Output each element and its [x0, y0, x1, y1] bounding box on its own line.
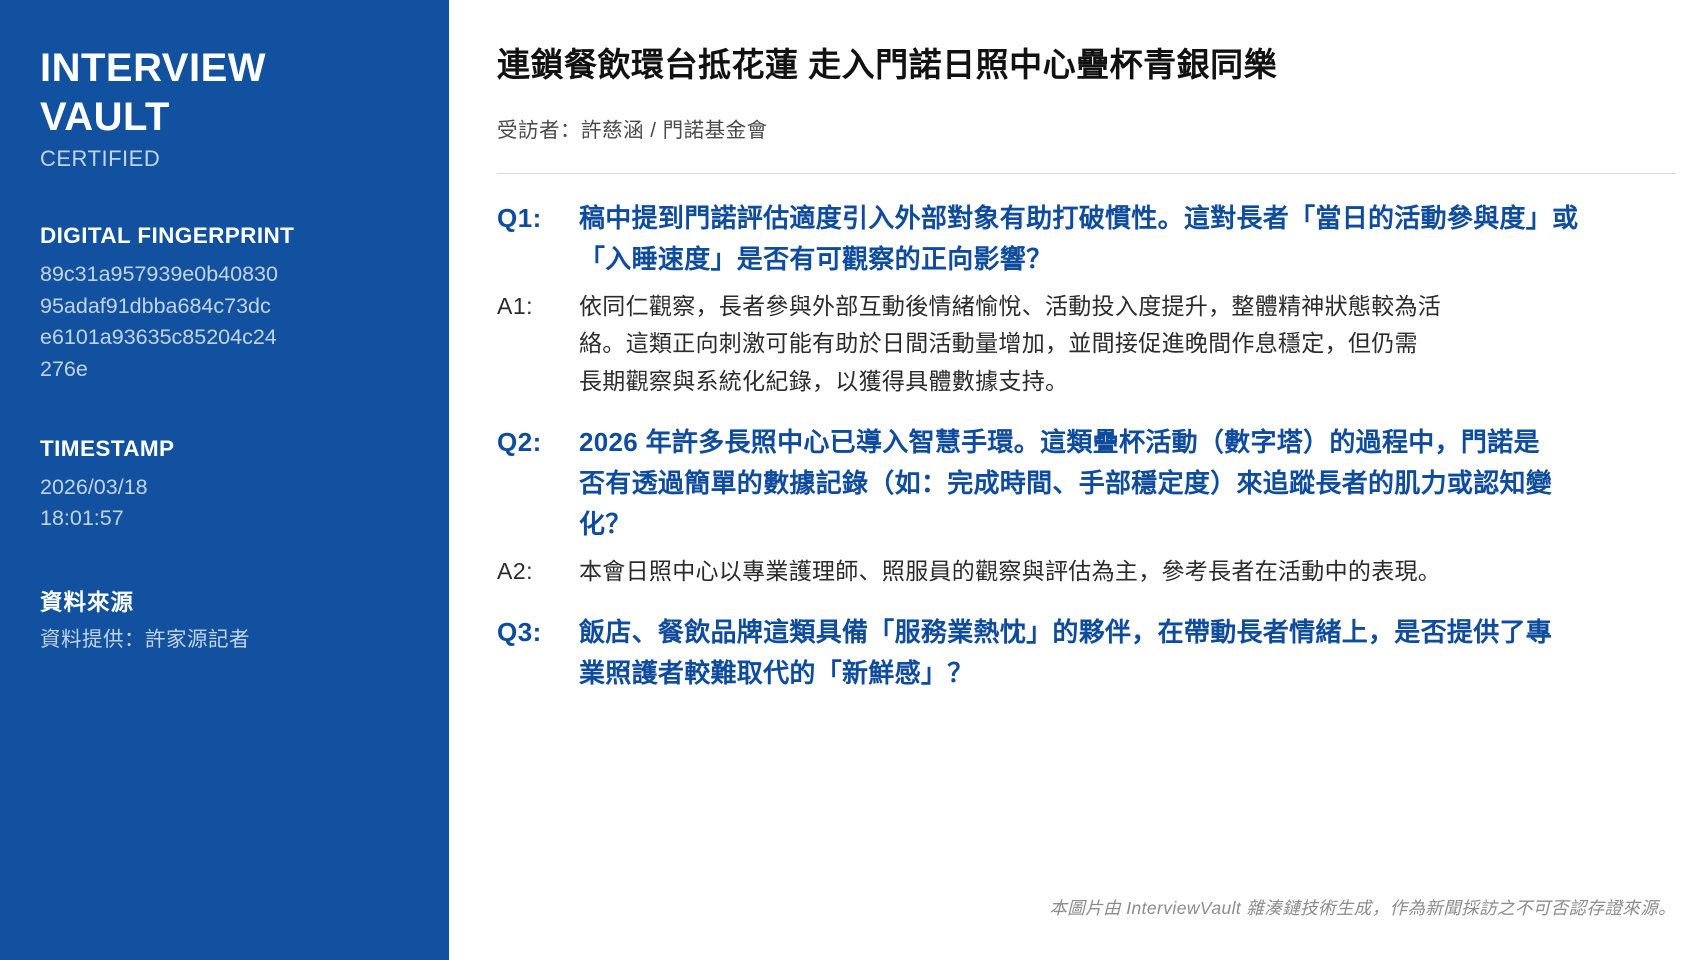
question-row: Q2: 2026 年許多長照中心已導入智慧手環。這類疊杯活動（數字塔）的過程中，… [497, 422, 1706, 545]
brand-block: INTERVIEW VAULT CERTIFIED [40, 44, 409, 173]
timestamp-label: TIMESTAMP [40, 436, 409, 462]
sidebar: INTERVIEW VAULT CERTIFIED DIGITAL FINGER… [0, 0, 449, 960]
qa-item: Q3: 飯店、餐飲品牌這類具備「服務業熱忱」的夥伴，在帶動長者情緒上，是否提供了… [497, 612, 1706, 694]
source-block: 資料來源 資料提供：許家源記者 [40, 585, 409, 656]
main-content: 連鎖餐飲環台抵花蓮 走入門諾日照中心疊杯青銀同樂 受訪者：許慈涵 / 門諾基金會… [449, 0, 1706, 960]
fingerprint-line-4: 276e [40, 354, 330, 386]
qa-item: A2: 本會日照中心以專業護理師、照服員的觀察與評估為主，參考長者在活動中的表現… [497, 553, 1706, 590]
qa-list: Q1: 稿中提到門諾評估適度引入外部對象有助打破慣性。這對長者「當日的活動參與度… [497, 198, 1706, 695]
answer-text: 依同仁觀察，長者參與外部互動後情緒愉悅、活動投入度提升，整體精神狀態較為活 絡。… [579, 288, 1441, 400]
brand-subtitle: CERTIFIED [40, 144, 300, 174]
certified-interview-document: INTERVIEW VAULT CERTIFIED DIGITAL FINGER… [0, 0, 1706, 960]
qa-item: Q2: 2026 年許多長照中心已導入智慧手環。這類疊杯活動（數字塔）的過程中，… [497, 422, 1706, 545]
answer-tag: A2: [497, 553, 579, 590]
digital-fingerprint-block: DIGITAL FINGERPRINT 89c31a957939e0b40830… [40, 223, 409, 385]
brand-title: INTERVIEW VAULT CERTIFIED [40, 44, 300, 173]
brand-title-line1: INTERVIEW [40, 46, 266, 90]
answer-row: A1: 依同仁觀察，長者參與外部互動後情緒愉悅、活動投入度提升，整體精神狀態較為… [497, 288, 1706, 400]
fingerprint-line-1: 89c31a957939e0b40830 [40, 259, 330, 291]
source-label: 資料來源 [40, 585, 409, 617]
qa-item: Q1: 稿中提到門諾評估適度引入外部對象有助打破慣性。這對長者「當日的活動參與度… [497, 198, 1706, 280]
question-tag: Q1: [497, 198, 579, 239]
page-title: 連鎖餐飲環台抵花蓮 走入門諾日照中心疊杯青銀同樂 [497, 44, 1706, 87]
fingerprint-line-2: 95adaf91dbba684c73dc [40, 291, 330, 323]
timestamp-block: TIMESTAMP 2026/03/18 18:01:57 [40, 436, 409, 535]
answer-text: 本會日照中心以專業護理師、照服員的觀察與評估為主，參考長者在活動中的表現。 [579, 553, 1441, 590]
answer-tag: A1: [497, 288, 579, 325]
timestamp-time: 18:01:57 [40, 503, 330, 535]
brand-title-line2: VAULT [40, 95, 170, 139]
digital-fingerprint-value: 89c31a957939e0b40830 95adaf91dbba684c73d… [40, 259, 330, 385]
source-value: 資料提供：許家源記者 [40, 625, 409, 656]
question-text: 飯店、餐飲品牌這類具備「服務業熱忱」的夥伴，在帶動長者情緒上，是否提供了專 業照… [579, 612, 1552, 694]
question-row: Q1: 稿中提到門諾評估適度引入外部對象有助打破慣性。這對長者「當日的活動參與度… [497, 198, 1706, 280]
timestamp-date: 2026/03/18 [40, 472, 330, 504]
question-tag: Q3: [497, 612, 579, 653]
digital-fingerprint-label: DIGITAL FINGERPRINT [40, 223, 409, 249]
timestamp-value: 2026/03/18 18:01:57 [40, 472, 330, 535]
answer-row: A2: 本會日照中心以專業護理師、照服員的觀察與評估為主，參考長者在活動中的表現… [497, 553, 1706, 590]
fingerprint-line-3: e6101a93635c85204c24 [40, 322, 330, 354]
qa-item: A1: 依同仁觀察，長者參與外部互動後情緒愉悅、活動投入度提升，整體精神狀態較為… [497, 288, 1706, 400]
footer-note: 本圖片由 InterviewVault 雜湊鏈技術生成，作為新聞採訪之不可否認存… [1049, 895, 1676, 920]
interviewee-line: 受訪者：許慈涵 / 門諾基金會 [497, 113, 1706, 143]
question-tag: Q2: [497, 422, 579, 463]
question-text: 2026 年許多長照中心已導入智慧手環。這類疊杯活動（數字塔）的過程中，門諾是 … [579, 422, 1552, 545]
header-divider [497, 173, 1676, 174]
question-text: 稿中提到門諾評估適度引入外部對象有助打破慣性。這對長者「當日的活動參與度」或 「… [579, 198, 1578, 280]
question-row: Q3: 飯店、餐飲品牌這類具備「服務業熱忱」的夥伴，在帶動長者情緒上，是否提供了… [497, 612, 1706, 694]
